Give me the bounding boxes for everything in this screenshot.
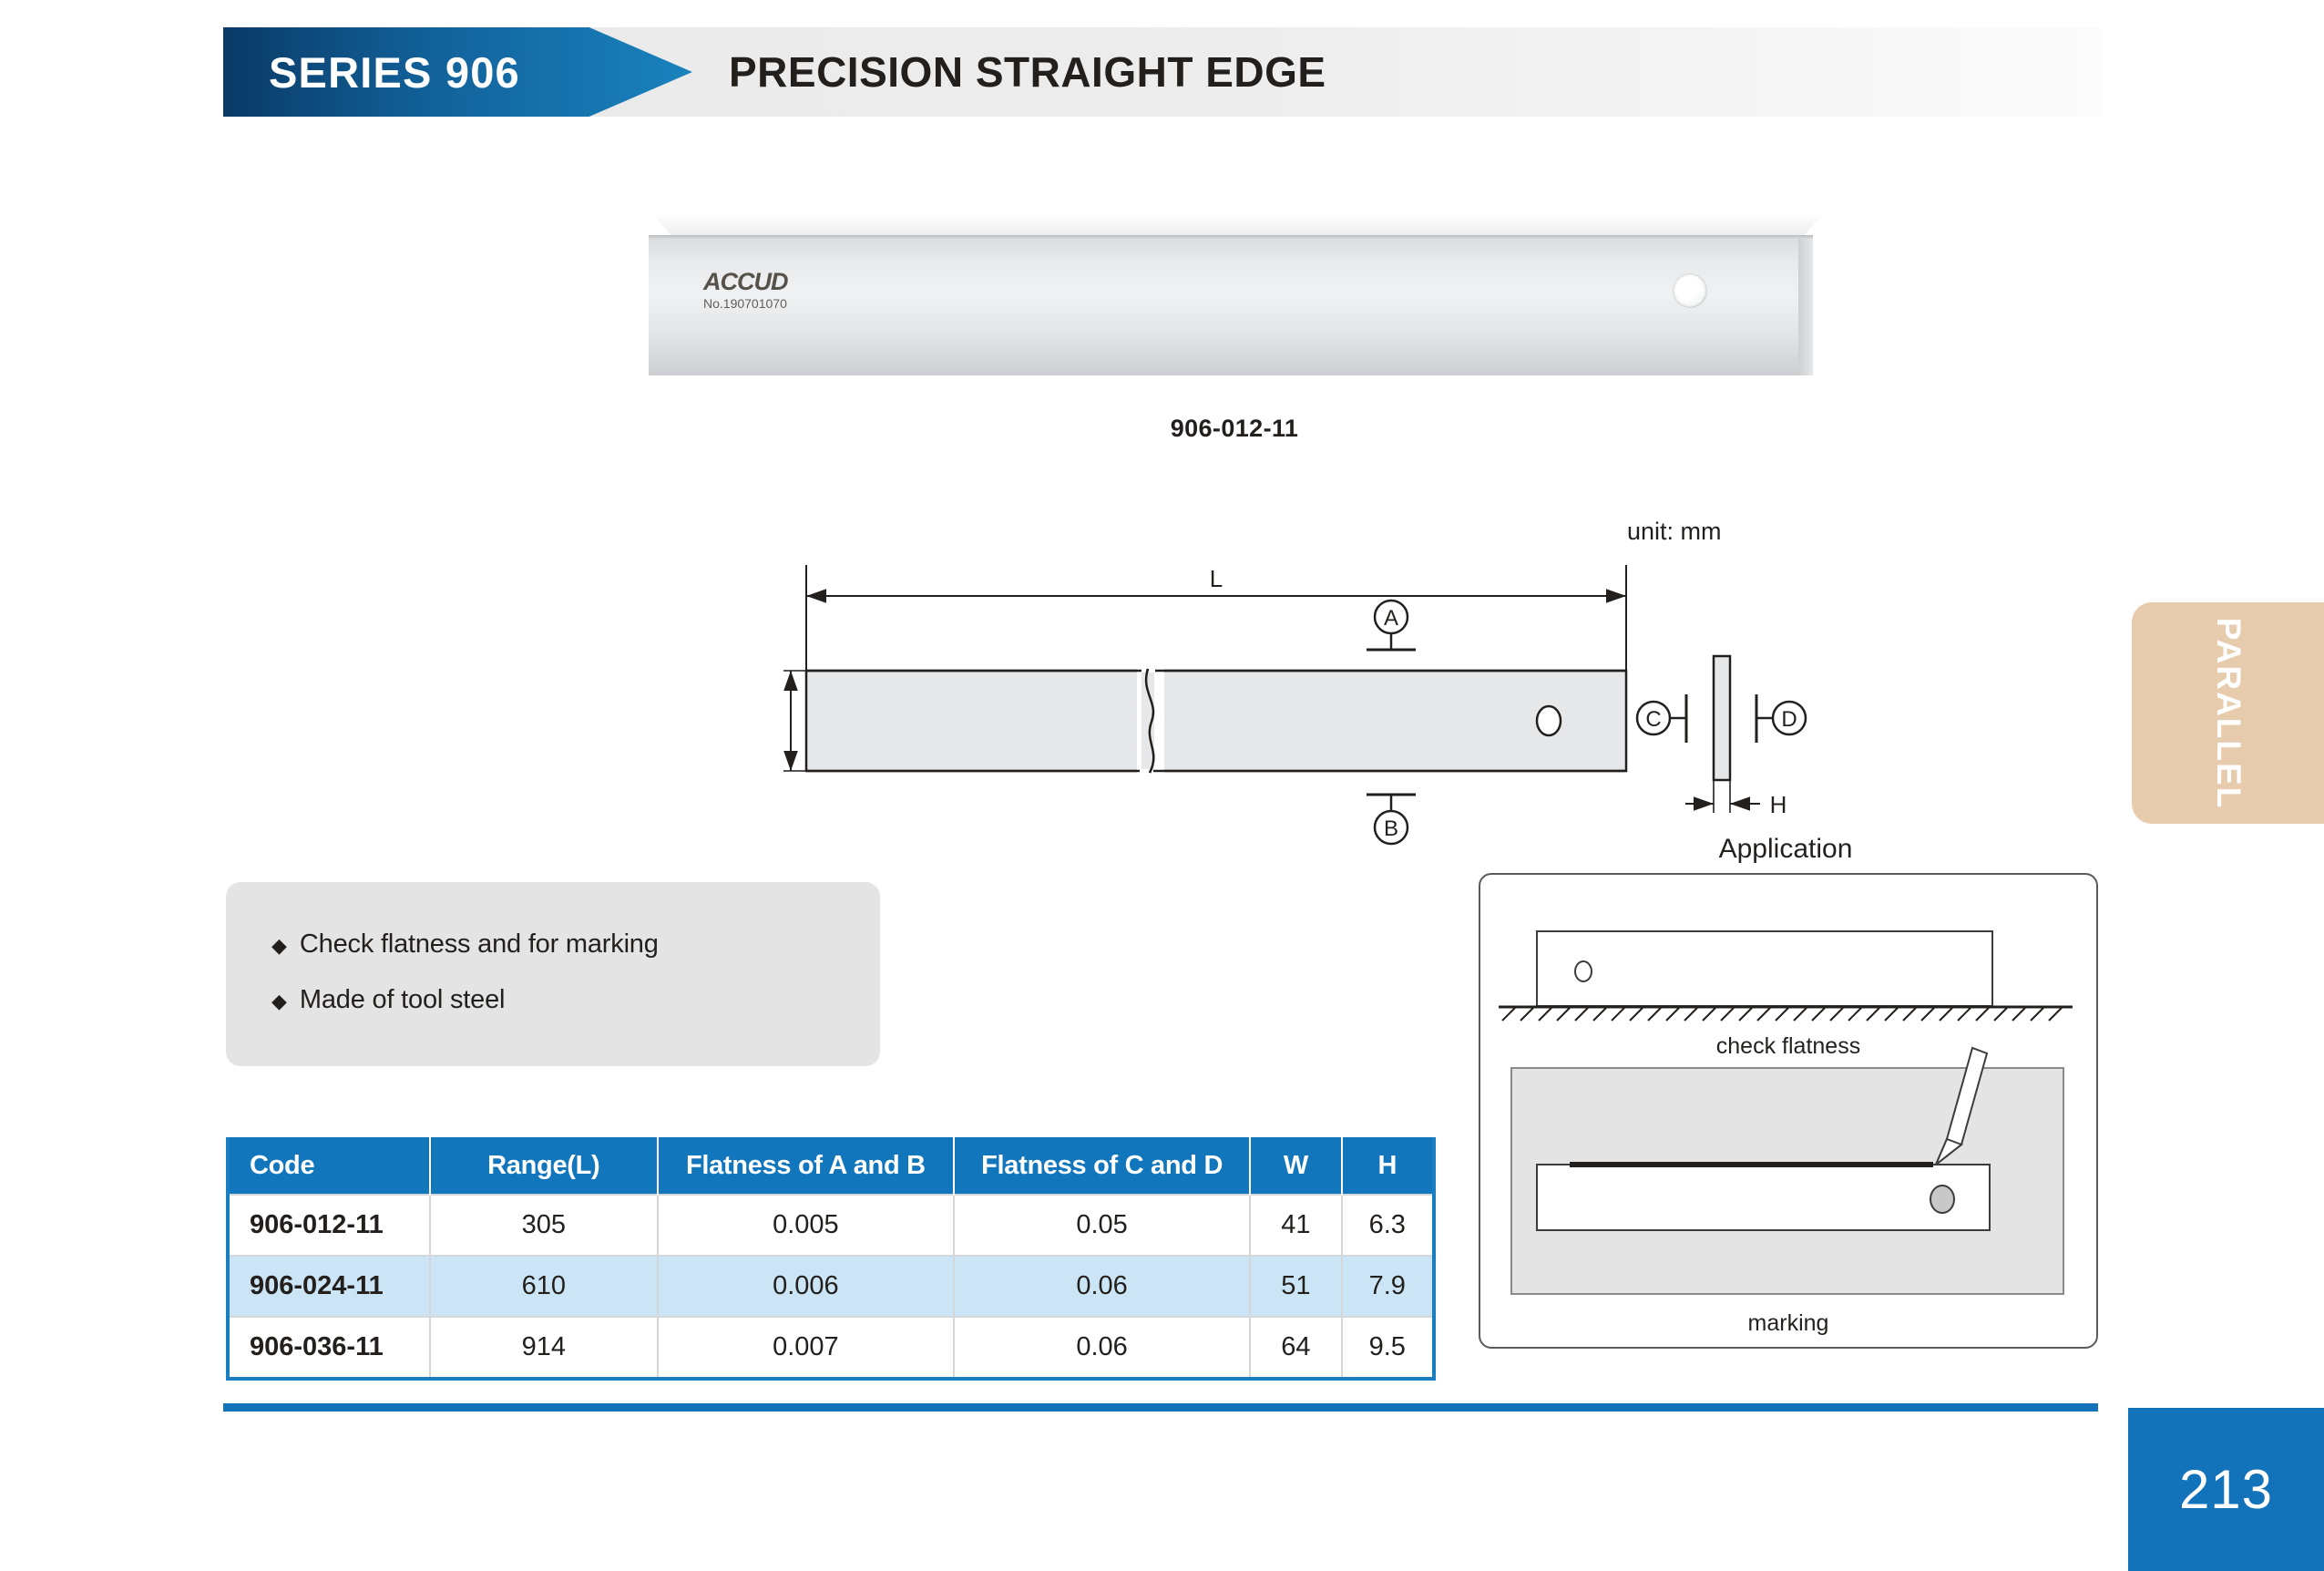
column-header-w: W (1250, 1137, 1341, 1195)
unit-note: unit: mm (1627, 518, 1722, 546)
cell-h: 7.9 (1342, 1256, 1434, 1317)
feature-label: Made of tool steel (300, 985, 505, 1015)
diamond-bullet-icon: ◆ (271, 936, 287, 956)
feature-label: Check flatness and for marking (300, 929, 659, 960)
column-header-h: H (1342, 1137, 1434, 1195)
cell-range: 610 (430, 1256, 658, 1317)
marking-illustration (1511, 1048, 2063, 1294)
marking-caption: marking (1748, 1310, 1829, 1336)
svg-text:L: L (1210, 565, 1223, 592)
column-header-range: Range(L) (430, 1137, 658, 1195)
cell-w: 41 (1250, 1195, 1341, 1256)
product-photo: ACCUD No.190701070 (649, 217, 1820, 381)
table-row: 906-012-11 305 0.005 0.05 41 6.3 (228, 1195, 1434, 1256)
cell-w: 51 (1250, 1256, 1341, 1317)
product-code-caption: 906-012-11 (649, 415, 1820, 443)
cell-h: 6.3 (1342, 1195, 1434, 1256)
svg-text:C: C (1645, 707, 1661, 732)
diamond-bullet-icon: ◆ (271, 991, 287, 1011)
table-row: 906-036-11 914 0.007 0.06 64 9.5 (228, 1317, 1434, 1379)
serial-number: No.190701070 (703, 297, 788, 310)
column-header-flatness-cd: Flatness of C and D (954, 1137, 1250, 1195)
check-flatness-illustration (1499, 931, 2073, 1021)
cell-range: 914 (430, 1317, 658, 1379)
cell-flatness-cd: 0.05 (954, 1195, 1250, 1256)
section-tab-label: PARALLEL (2209, 617, 2247, 809)
table-header-row: Code Range(L) Flatness of A and B Flatne… (228, 1137, 1434, 1195)
cell-flatness-ab: 0.005 (658, 1195, 954, 1256)
table-row: 906-024-11 610 0.006 0.06 51 7.9 (228, 1256, 1434, 1317)
series-label: SERIES 906 (223, 47, 520, 98)
check-flatness-caption: check flatness (1716, 1033, 1860, 1059)
application-panel: check flatness marking (1479, 873, 2098, 1349)
features-box: ◆ Check flatness and for marking ◆ Made … (226, 882, 880, 1066)
cell-range: 305 (430, 1195, 658, 1256)
cell-flatness-cd: 0.06 (954, 1256, 1250, 1317)
cell-code: 906-036-11 (228, 1317, 430, 1379)
technical-drawing: L W A (783, 556, 1858, 857)
svg-text:D: D (1781, 707, 1797, 732)
svg-text:H: H (1770, 791, 1787, 818)
footer-divider (223, 1403, 2098, 1412)
application-title: Application (1476, 834, 2095, 865)
feature-item: ◆ Made of tool steel (271, 985, 880, 1015)
page-number-block: 213 (2128, 1408, 2324, 1571)
cell-flatness-ab: 0.007 (658, 1317, 954, 1379)
product-photo-body (649, 235, 1813, 375)
cell-code: 906-012-11 (228, 1195, 430, 1256)
product-photo-endcap (1798, 237, 1813, 375)
cell-code: 906-024-11 (228, 1256, 430, 1317)
section-tab-parallel: PARALLEL (2132, 602, 2324, 824)
cell-h: 9.5 (1342, 1317, 1434, 1379)
cell-w: 64 (1250, 1317, 1341, 1379)
svg-text:A: A (1384, 606, 1398, 631)
page-title: PRECISION STRAIGHT EDGE (729, 27, 1326, 117)
catalog-page: SERIES 906 PRECISION STRAIGHT EDGE ACCUD… (0, 0, 2324, 1571)
brand-name: ACCUD (703, 270, 788, 294)
page-number: 213 (2179, 1458, 2273, 1521)
product-photo-top-face (656, 217, 1820, 237)
cell-flatness-cd: 0.06 (954, 1317, 1250, 1379)
column-header-flatness-ab: Flatness of A and B (658, 1137, 954, 1195)
cell-flatness-ab: 0.006 (658, 1256, 954, 1317)
mounting-hole-icon (1673, 273, 1707, 308)
column-header-code: Code (228, 1137, 430, 1195)
specification-table: Code Range(L) Flatness of A and B Flatne… (226, 1137, 1436, 1381)
svg-text:B: B (1384, 816, 1398, 841)
feature-item: ◆ Check flatness and for marking (271, 929, 880, 960)
product-brand-mark: ACCUD No.190701070 (703, 270, 788, 310)
